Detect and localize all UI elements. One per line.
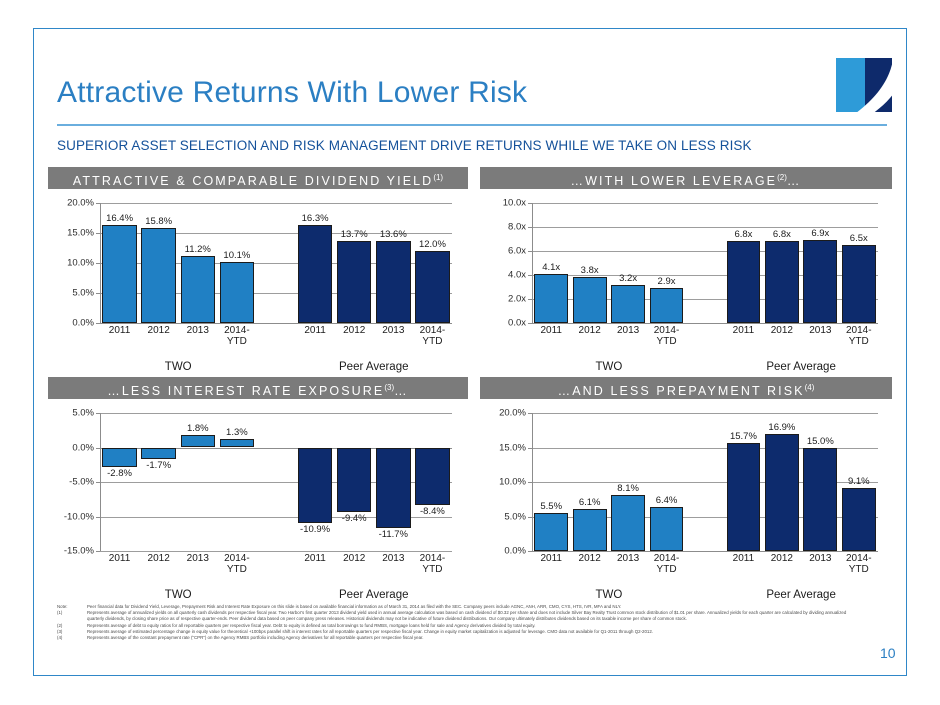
- x-axis-tick-label: 2014-YTD: [840, 325, 878, 347]
- bar-value-label: 16.9%: [757, 422, 807, 433]
- footnote-row: (1)Represents average of annualized yiel…: [57, 610, 857, 622]
- bar: [765, 434, 799, 551]
- bar-value-label: 12.0%: [407, 239, 457, 250]
- band-label: …AND LESS PREPAYMENT RISK: [558, 384, 805, 398]
- panel-title-prepayment-risk: …AND LESS PREPAYMENT RISK(4): [480, 377, 892, 399]
- y-axis-tick-label: 8.0x: [480, 222, 526, 233]
- bar: [842, 245, 876, 323]
- band-label: …WITH LOWER LEVERAGE: [571, 174, 778, 188]
- x-axis-tick-label: 2014-YTD: [217, 553, 256, 575]
- band-footnote-ref: (2): [777, 173, 787, 182]
- band-footnote-ref: (4): [805, 383, 815, 392]
- band-tail: …: [394, 384, 409, 398]
- x-axis-tick-label: 2011: [296, 553, 335, 564]
- y-axis-tick-label: 2.0x: [480, 294, 526, 305]
- bar-value-label: 8.1%: [603, 483, 653, 494]
- x-axis-tick-label: 2013: [374, 325, 413, 336]
- bar: [611, 495, 645, 551]
- bar-value-label: -11.7%: [368, 529, 418, 540]
- chart-leverage: 0.0x2.0x4.0x6.0x8.0x10.0x4.1x3.8x3.2x2.9…: [480, 189, 892, 389]
- bar-value-label: -8.4%: [407, 506, 457, 517]
- gridline: [100, 203, 452, 204]
- title-divider: [57, 124, 887, 126]
- bar: [298, 225, 332, 323]
- x-axis-tick-label: 2012: [763, 553, 801, 564]
- x-axis-tick-label: 2014-YTD: [647, 325, 685, 347]
- y-axis-tickmark: [528, 551, 532, 552]
- y-axis-tickmark: [96, 551, 100, 552]
- y-axis-tick-label: 4.0x: [480, 270, 526, 281]
- bar-value-label: 6.1%: [565, 497, 615, 508]
- panel-title-dividend-yield: ATTRACTIVE & COMPARABLE DIVIDEND YIELD(1…: [48, 167, 468, 189]
- group-label-peer: Peer Average: [296, 589, 452, 601]
- bar: [298, 448, 332, 523]
- bar: [220, 439, 254, 448]
- footnote-text: Represents average of annualized yields …: [87, 610, 857, 622]
- bar: [650, 507, 684, 551]
- x-axis-tick-label: 2013: [609, 553, 647, 564]
- bar-value-label: 6.5x: [834, 233, 884, 244]
- bar: [803, 240, 837, 323]
- gridline: [532, 323, 878, 324]
- y-axis-tick-label: 6.0x: [480, 246, 526, 257]
- group-label-two: TWO: [100, 589, 256, 601]
- bar: [727, 241, 761, 323]
- y-axis-tick-label: 20.0%: [48, 198, 94, 209]
- x-axis-tick-label: 2011: [100, 325, 139, 336]
- bar-value-label: -10.9%: [290, 524, 340, 535]
- chart-interest-rate-exposure: -15.0%-10.0%-5.0%0.0%5.0%-2.8%-1.7%1.8%1…: [48, 399, 468, 611]
- footnotes: Note:Peer financial data for Dividend Yi…: [57, 604, 857, 641]
- x-axis-tick-label: 2014-YTD: [413, 325, 452, 347]
- x-axis-tick-label: 2011: [724, 325, 762, 336]
- x-axis-tick-label: 2012: [335, 325, 374, 336]
- bar-value-label: -1.7%: [133, 460, 183, 471]
- x-axis-tick-label: 2013: [374, 553, 413, 564]
- bar: [415, 448, 449, 506]
- gridline: [100, 413, 452, 414]
- panel-title-leverage: …WITH LOWER LEVERAGE(2)…: [480, 167, 892, 189]
- gridline: [532, 551, 878, 552]
- slide: Attractive Returns With Lower Risk SUPER…: [0, 0, 940, 705]
- bar: [141, 448, 175, 460]
- x-axis-tick-label: 2013: [178, 325, 217, 336]
- group-label-two: TWO: [532, 589, 686, 601]
- bar: [337, 448, 371, 513]
- bar: [573, 277, 607, 323]
- y-axis-tick-label: 15.0%: [48, 228, 94, 239]
- band-footnote-ref: (1): [433, 173, 443, 182]
- y-axis-tick-label: 5.0%: [480, 511, 526, 522]
- bar: [181, 256, 215, 323]
- chart-prepayment-risk: 0.0%5.0%10.0%15.0%20.0%5.5%6.1%8.1%6.4%1…: [480, 399, 892, 611]
- x-axis-tick-label: 2013: [801, 325, 839, 336]
- gridline: [100, 551, 452, 552]
- bar: [337, 241, 371, 323]
- band-label: …LESS INTEREST RATE EXPOSURE: [107, 384, 384, 398]
- bar-value-label: 9.1%: [834, 476, 884, 487]
- page-title: Attractive Returns With Lower Risk: [57, 76, 527, 110]
- x-axis-tick-label: 2012: [139, 553, 178, 564]
- x-axis-tick-label: 2011: [296, 325, 335, 336]
- x-axis-tick-label: 2012: [570, 553, 608, 564]
- x-axis-tick-label: 2013: [609, 325, 647, 336]
- bar: [181, 435, 215, 447]
- y-axis-tick-label: 5.0%: [48, 408, 94, 419]
- y-axis-tickmark: [96, 323, 100, 324]
- two-harbors-logo-icon: [836, 58, 892, 112]
- y-axis-tick-label: -15.0%: [48, 546, 94, 557]
- x-axis-tick-label: 2013: [178, 553, 217, 564]
- bar: [102, 225, 136, 323]
- band-tail: …: [787, 174, 802, 188]
- bar-value-label: 6.4%: [642, 495, 692, 506]
- bar: [727, 443, 761, 551]
- x-axis-tick-label: 2011: [100, 553, 139, 564]
- y-axis-tick-label: 0.0%: [48, 318, 94, 329]
- bar-value-label: 2.9x: [642, 276, 692, 287]
- bar: [842, 488, 876, 551]
- footnote-row: (4)Represents average of the constant pr…: [57, 635, 857, 641]
- bar: [220, 262, 254, 323]
- footnote-key: (4): [57, 635, 87, 641]
- x-axis-tick-label: 2011: [532, 325, 570, 336]
- group-label-two: TWO: [532, 361, 686, 373]
- x-axis-tick-label: 2013: [801, 553, 839, 564]
- y-axis-tick-label: -5.0%: [48, 477, 94, 488]
- bar: [573, 509, 607, 551]
- y-axis-tickmark: [528, 323, 532, 324]
- x-axis-tick-label: 2014-YTD: [647, 553, 685, 575]
- group-label-peer: Peer Average: [724, 589, 878, 601]
- y-axis-tick-label: 10.0%: [48, 258, 94, 269]
- bar-value-label: 16.3%: [290, 213, 340, 224]
- y-axis-tick-label: 0.0%: [480, 546, 526, 557]
- bar: [102, 448, 136, 467]
- y-axis-tick-label: -10.0%: [48, 511, 94, 522]
- gridline: [100, 323, 452, 324]
- y-axis-line: [100, 413, 101, 551]
- bar: [415, 251, 449, 323]
- bar: [765, 241, 799, 323]
- x-axis-tick-label: 2014-YTD: [840, 553, 878, 575]
- group-label-two: TWO: [100, 361, 256, 373]
- group-label-peer: Peer Average: [724, 361, 878, 373]
- panel-interest-rate-exposure: …LESS INTEREST RATE EXPOSURE(3)… -15.0%-…: [48, 377, 468, 611]
- panel-leverage: …WITH LOWER LEVERAGE(2)… 0.0x2.0x4.0x6.0…: [480, 167, 892, 389]
- bar: [141, 228, 175, 323]
- x-axis-tick-label: 2014-YTD: [217, 325, 256, 347]
- y-axis-tick-label: 0.0x: [480, 318, 526, 329]
- bar: [611, 285, 645, 323]
- y-axis-tick-label: 10.0%: [480, 477, 526, 488]
- x-axis-tick-label: 2014-YTD: [413, 553, 452, 575]
- page-number: 10: [880, 645, 896, 661]
- y-axis-tick-label: 15.0%: [480, 442, 526, 453]
- x-axis-tick-label: 2011: [724, 553, 762, 564]
- x-axis-tick-label: 2011: [532, 553, 570, 564]
- bar: [803, 448, 837, 552]
- y-axis-tick-label: 5.0%: [48, 288, 94, 299]
- bar-value-label: 1.3%: [212, 427, 262, 438]
- bar: [376, 448, 410, 529]
- bar: [376, 241, 410, 323]
- footnote-text: Represents average of the constant prepa…: [87, 635, 857, 641]
- band-footnote-ref: (3): [384, 383, 394, 392]
- bar: [650, 288, 684, 323]
- bar-value-label: 15.0%: [795, 436, 845, 447]
- panel-dividend-yield: ATTRACTIVE & COMPARABLE DIVIDEND YIELD(1…: [48, 167, 468, 389]
- x-axis-tick-label: 2012: [763, 325, 801, 336]
- subtitle: SUPERIOR ASSET SELECTION AND RISK MANAGE…: [57, 138, 752, 153]
- bar: [534, 513, 568, 551]
- bar-value-label: 10.1%: [212, 250, 262, 261]
- x-axis-tick-label: 2012: [139, 325, 178, 336]
- bar-value-label: 15.8%: [133, 216, 183, 227]
- x-axis-tick-label: 2012: [335, 553, 374, 564]
- bar: [534, 274, 568, 323]
- panel-prepayment-risk: …AND LESS PREPAYMENT RISK(4) 0.0%5.0%10.…: [480, 377, 892, 611]
- y-axis-tick-label: 20.0%: [480, 408, 526, 419]
- gridline: [532, 413, 878, 414]
- y-axis-tick-label: 10.0x: [480, 198, 526, 209]
- group-label-peer: Peer Average: [296, 361, 452, 373]
- gridline: [532, 203, 878, 204]
- band-label: ATTRACTIVE & COMPARABLE DIVIDEND YIELD: [73, 174, 433, 188]
- footnote-key: (1): [57, 610, 87, 622]
- chart-dividend-yield: 0.0%5.0%10.0%15.0%20.0%16.4%15.8%11.2%10…: [48, 189, 468, 389]
- panel-title-interest-rate-exposure: …LESS INTEREST RATE EXPOSURE(3)…: [48, 377, 468, 399]
- bar-value-label: -9.4%: [329, 513, 379, 524]
- x-axis-tick-label: 2012: [570, 325, 608, 336]
- y-axis-line: [532, 413, 533, 551]
- y-axis-tick-label: 0.0%: [48, 442, 94, 453]
